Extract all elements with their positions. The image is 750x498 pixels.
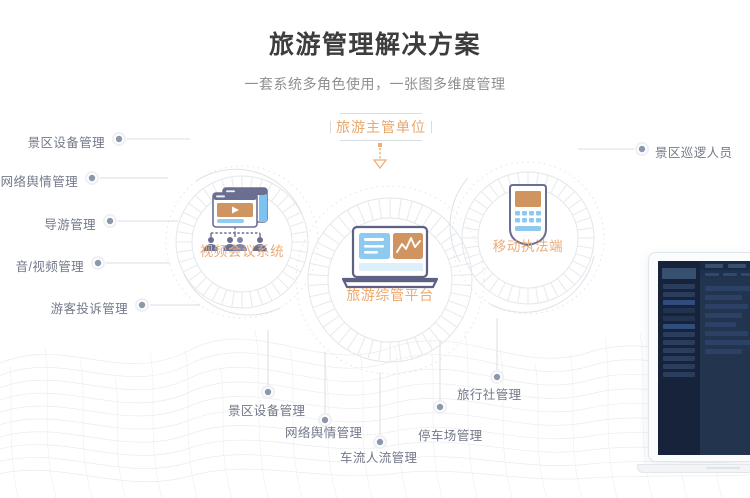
sidebar-row (663, 364, 695, 369)
node-label-platform: 旅游综管平台 (320, 285, 460, 305)
laptop-dashboard-icon (335, 225, 445, 291)
tab-chip (723, 273, 737, 276)
laptop-lid (648, 252, 750, 462)
leaf-label-bottom-0: 景区设备管理 (228, 400, 305, 419)
page-title: 旅游管理解决方案 (0, 0, 750, 61)
node-label-video-conference: 视频会议系统 (172, 240, 312, 260)
tree-row (705, 331, 748, 336)
tree-row (705, 313, 742, 318)
dashboard-logo (662, 268, 696, 279)
tree-row (705, 304, 748, 309)
leaf-label-bottom-3: 停车场管理 (418, 425, 483, 444)
sidebar-row-active (663, 324, 695, 329)
tab-chip (705, 273, 719, 276)
sidebar-row (663, 348, 695, 353)
leaf-label-left-3: 音/视频管理 (0, 256, 84, 275)
leaf-label-left-1: 网络舆情管理 (0, 171, 78, 190)
leaf-label-bottom-2: 车流人流管理 (340, 447, 417, 466)
dashboard-main (700, 261, 750, 455)
sidebar-row-active (663, 300, 695, 305)
leaf-label-left-0: 景区设备管理 (0, 132, 105, 151)
topbar-chip (705, 264, 723, 268)
tree-row (705, 340, 750, 345)
laptop-notch (706, 467, 740, 469)
laptop-base (637, 464, 750, 473)
leaf-label-left-4: 游客投诉管理 (0, 298, 128, 317)
laptop-screen (658, 261, 750, 455)
sidebar-row (663, 316, 695, 321)
sidebar-row (663, 356, 695, 361)
sidebar-row (663, 340, 695, 345)
leaf-label-bottom-1: 网络舆情管理 (285, 422, 362, 441)
leaf-label-left-2: 导游管理 (0, 214, 96, 233)
tree-row (705, 295, 742, 300)
topbar-chip (728, 264, 746, 268)
leaf-label-right-0: 景区巡逻人员 (655, 142, 732, 161)
authority-label: 旅游主管单位 (336, 117, 426, 137)
tree-row (705, 286, 750, 291)
sidebar-row (663, 332, 695, 337)
leaf-label-bottom-4: 旅行社管理 (457, 384, 522, 403)
sidebar-row (663, 284, 695, 289)
tab-chip (741, 273, 750, 276)
dashboard-tabbar (700, 270, 750, 278)
sidebar-row (663, 292, 695, 297)
solution-diagram-page: 旅游管理解决方案 一套系统多角色使用，一张图多维度管理 (0, 0, 750, 498)
authority-box[interactable]: 旅游主管单位 (330, 113, 432, 141)
page-header: 旅游管理解决方案 一套系统多角色使用，一张图多维度管理 (0, 0, 750, 94)
node-label-mobile-enforcement: 移动执法端 (458, 235, 598, 255)
sidebar-row (663, 308, 695, 313)
tree-row (705, 349, 742, 354)
sidebar-row (663, 372, 695, 377)
tree-row (705, 322, 736, 327)
dashboard-sidebar (658, 261, 700, 455)
dashboard-content (700, 278, 750, 455)
arrow-down-icon (366, 143, 394, 169)
laptop-admin-dashboard (648, 252, 750, 473)
dashboard-tree (700, 278, 750, 455)
dashboard-topbar (700, 261, 750, 270)
page-subtitle: 一套系统多角色使用，一张图多维度管理 (0, 61, 750, 94)
